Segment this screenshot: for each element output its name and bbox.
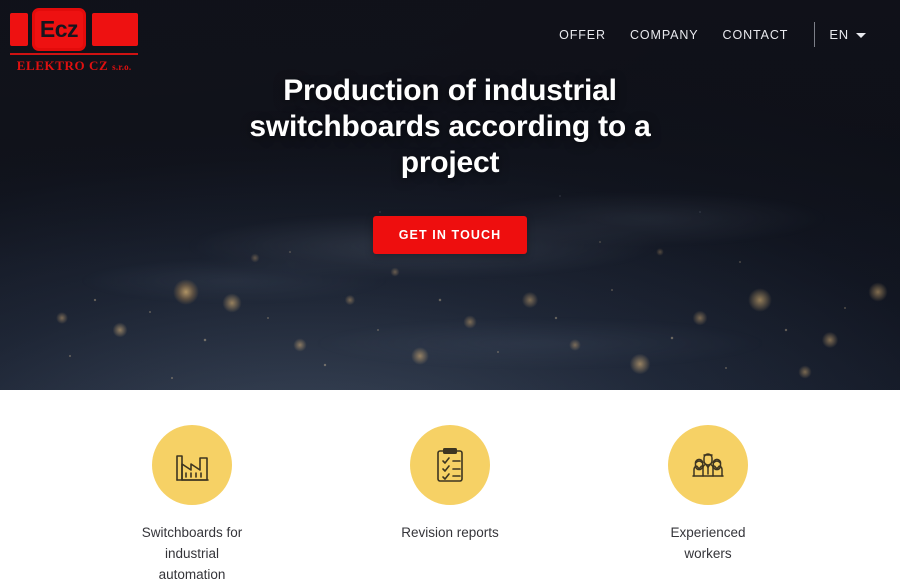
logo-bar-right [92, 13, 138, 46]
feature-icon-circle [410, 425, 490, 505]
logo-mark-icon: Ecz [10, 8, 138, 52]
features-section: Switchboards for industrial automation R… [0, 390, 900, 586]
feature-experienced-workers[interactable]: Experienced workers [610, 425, 806, 565]
logo-plate-text: Ecz [40, 18, 78, 41]
feature-icon-circle [668, 425, 748, 505]
site-header: Ecz ELEKTRO CZ s.r.o. OFFER COMPANY CONT… [0, 0, 900, 76]
logo-bar-left [10, 13, 28, 46]
feature-icon-circle [152, 425, 232, 505]
chevron-down-icon [856, 33, 866, 38]
nav-link-company[interactable]: COMPANY [618, 24, 711, 46]
language-selector[interactable]: EN [823, 23, 872, 46]
clipboard-checklist-icon [429, 444, 471, 486]
logo-wordmark-suffix: s.r.o. [112, 62, 131, 72]
get-in-touch-button[interactable]: GET IN TOUCH [373, 216, 528, 254]
feature-label: Switchboards for industrial automation [132, 523, 252, 586]
logo-divider-rule [10, 53, 138, 55]
feature-label: Experienced workers [648, 523, 768, 565]
nav-link-contact[interactable]: CONTACT [711, 24, 801, 46]
hero-title: Production of industrial switchboards ac… [240, 73, 660, 181]
logo-wordmark-main: ELEKTRO CZ [17, 58, 109, 73]
site-logo[interactable]: Ecz ELEKTRO CZ s.r.o. [10, 8, 138, 74]
nav-link-offer[interactable]: OFFER [547, 24, 618, 46]
feature-label: Revision reports [390, 523, 510, 544]
page-root: Ecz ELEKTRO CZ s.r.o. OFFER COMPANY CONT… [0, 0, 900, 586]
main-navigation: OFFER COMPANY CONTACT EN [547, 22, 872, 47]
feature-revision-reports[interactable]: Revision reports [352, 425, 548, 544]
logo-plate: Ecz [32, 8, 86, 51]
language-selected-label: EN [829, 27, 849, 42]
team-people-icon [687, 444, 729, 486]
logo-wordmark: ELEKTRO CZ s.r.o. [10, 58, 138, 74]
nav-divider [814, 22, 815, 47]
hero-section: Ecz ELEKTRO CZ s.r.o. OFFER COMPANY CONT… [0, 0, 900, 390]
factory-icon [171, 444, 213, 486]
feature-switchboards[interactable]: Switchboards for industrial automation [94, 425, 290, 586]
